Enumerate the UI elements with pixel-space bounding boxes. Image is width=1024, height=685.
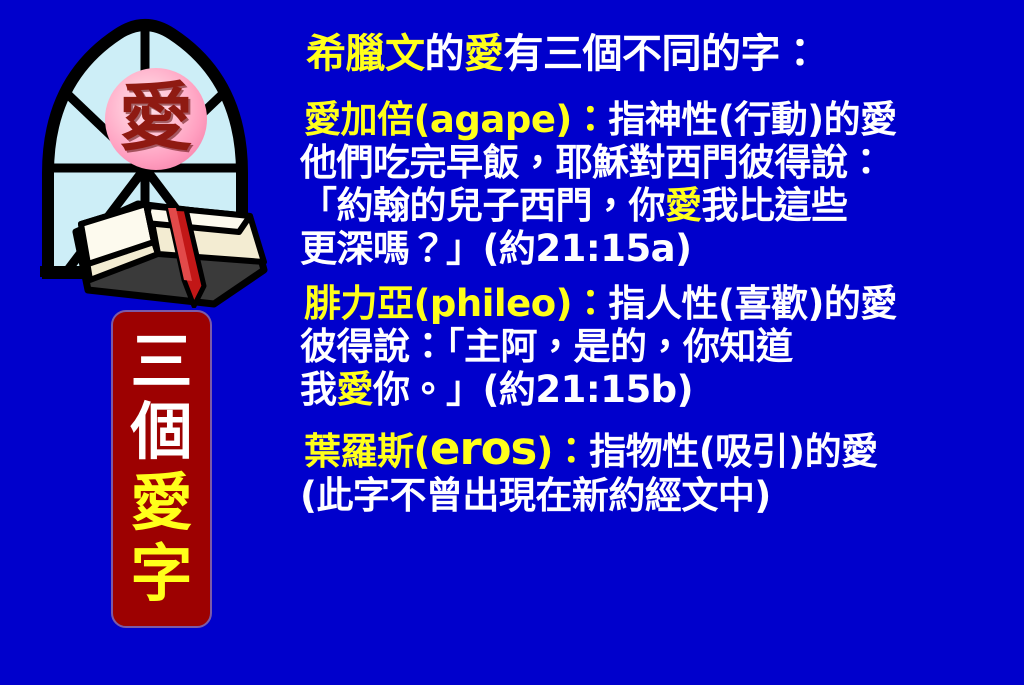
agape-verse-line-3: 更深嗎？」(約21:15a) [290,230,1000,267]
banner-char-1: 三 [130,327,192,398]
phileo-verse-line-1: 彼得說：「主阿，是的，你知道 [290,328,1000,365]
agape-term: 愛加倍(agape)： [304,98,608,141]
left-illustration-column: 愛 三 個 愛 字 [0,0,290,685]
eros-term-cjk: 葉羅斯( [304,430,430,473]
phileo-verse-2-part-c: 你。」(約21:15b) [373,368,693,411]
agape-verse-2-love: 愛 [665,184,702,227]
three-love-words-banner: 三 個 愛 字 [111,310,212,628]
phileo-verse-2-part-a: 我 [300,368,337,411]
phileo-verse-2-love: 愛 [337,368,374,411]
agape-heading: 愛加倍(agape)：指神性(行動)的愛 [290,101,1000,138]
phileo-heading: 腓力亞(phileo)：指人性(喜歡)的愛 [290,285,1000,322]
love-character-glyph: 愛 [119,81,193,155]
love-character-disc: 愛 [105,68,207,170]
agape-verse-line-1: 他們吃完早飯，耶穌對西門彼得說： [290,144,1000,181]
title-segment-greek: 希臘文 [306,31,425,77]
phileo-definition: 指人性(喜歡)的愛 [609,282,897,325]
banner-char-4: 字 [130,539,192,610]
title-segment-rest: 有三個不同的字： [504,31,820,77]
title-segment-love: 愛 [464,31,504,77]
agape-definition: 指神性(行動)的愛 [608,98,896,141]
eros-term-latin: eros [430,422,536,475]
title-segment-de: 的 [425,31,465,77]
banner-char-2: 個 [130,397,192,468]
eros-heading: 葉羅斯(eros)：指物性(吸引)的愛 [290,426,1000,471]
agape-verse-line-2: 「約翰的兒子西門，你愛我比這些 [290,187,1000,224]
eros-note: (此字不曾出現在新約經文中) [290,477,1000,514]
banner-char-3: 愛 [130,468,192,539]
eros-term-close: )： [536,430,589,473]
phileo-term: 腓力亞(phileo)： [304,282,609,325]
agape-verse-2-part-a: 「約翰的兒子西門，你 [300,184,665,227]
slide-text-content: 希臘文的愛有三個不同的字： 愛加倍(agape)：指神性(行動)的愛 他們吃完早… [290,34,1000,654]
eros-definition: 指物性(吸引)的愛 [589,430,877,473]
agape-verse-2-part-c: 我比這些 [702,184,848,227]
slide-title: 希臘文的愛有三個不同的字： [290,34,1000,74]
slide-canvas: 愛 三 個 愛 字 希臘文的愛有三個不同的字： 愛加倍(agape)：指神性(行… [0,0,1024,685]
phileo-verse-line-2: 我愛你。」(約21:15b) [290,371,1000,408]
